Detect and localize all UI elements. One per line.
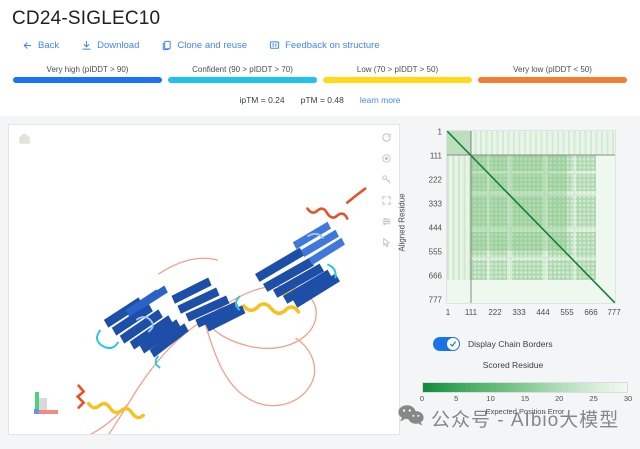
- pae-y-tick: 777: [414, 296, 442, 305]
- clone-label: Clone and reuse: [177, 40, 247, 51]
- display-chain-borders-toggle[interactable]: [433, 337, 460, 351]
- viewer-toolbar[interactable]: [378, 129, 395, 251]
- pae-heatmap[interactable]: [446, 130, 616, 304]
- legend-item-confident: Confident (90 > pIDDT > 70): [165, 65, 320, 83]
- arrow-left-icon: [22, 40, 33, 51]
- legend-label: Very high (pIDDT > 90): [13, 65, 162, 74]
- pae-y-tick: 444: [414, 224, 442, 233]
- iptm-score: ipTM = 0.24: [240, 95, 285, 105]
- legend-item-very-low: Very low (pIDDT < 50): [475, 65, 630, 83]
- pae-x-axis-title: Scored Residue: [400, 360, 640, 370]
- copy-icon: [161, 40, 172, 51]
- download-icon: [81, 40, 92, 51]
- legend-label: Very low (pIDDT < 50): [478, 65, 627, 74]
- fullscreen-icon[interactable]: [378, 192, 395, 209]
- pae-x-tick: 111: [465, 308, 477, 317]
- chain-borders-toggle-row[interactable]: Display Chain Borders: [433, 337, 640, 351]
- action-bar: Back Download Clone and reuse Feedback o…: [0, 30, 640, 59]
- reset-view-icon[interactable]: [378, 129, 395, 146]
- pae-y-tick: 333: [414, 200, 442, 209]
- download-button[interactable]: Download: [81, 40, 139, 51]
- legend-item-very-high: Very high (pIDDT > 90): [10, 65, 165, 83]
- pae-y-tick: 666: [414, 272, 442, 281]
- colorbar-tick: 25: [589, 394, 597, 403]
- pae-y-ticks: 1 111 222 333 444 555 666 777: [412, 122, 442, 327]
- comment-icon: [269, 40, 280, 51]
- pointer-select-icon[interactable]: [378, 234, 395, 251]
- plddt-legend: Very high (pIDDT > 90) Confident (90 > p…: [0, 59, 640, 85]
- legend-label: Confident (90 > pIDDT > 70): [168, 65, 317, 74]
- colorbar-ticks: 0 5 10 15 20 25 30: [422, 394, 628, 406]
- display-chain-borders-label: Display Chain Borders: [468, 339, 553, 349]
- screenshot-icon[interactable]: [378, 171, 395, 188]
- pae-x-tick: 333: [512, 308, 525, 317]
- ptm-score: pTM = 0.48: [301, 95, 344, 105]
- legend-label: Low (70 > pIDDT > 50): [323, 65, 472, 74]
- pae-x-tick: 555: [560, 308, 573, 317]
- main-content: Aligned Residue 1 111 222 333 444 555 66…: [0, 116, 640, 449]
- structure-viewer-canvas[interactable]: [8, 124, 400, 435]
- pae-x-tick: 777: [607, 308, 620, 317]
- colorbar-tick: 5: [454, 394, 458, 403]
- check-icon: [449, 340, 457, 348]
- pae-colorbar: 0 5 10 15 20 25 30 Expected Position Err…: [422, 382, 628, 416]
- learn-more-link[interactable]: learn more: [360, 95, 401, 105]
- feedback-button[interactable]: Feedback on structure: [269, 40, 380, 51]
- pae-y-tick: 555: [414, 248, 442, 257]
- colorbar-tick: 30: [624, 394, 632, 403]
- pae-plot: Aligned Residue 1 111 222 333 444 555 66…: [400, 122, 640, 327]
- colorbar-tick: 15: [521, 394, 529, 403]
- legend-bar-confident: [168, 77, 317, 83]
- clone-and-reuse-button[interactable]: Clone and reuse: [161, 40, 247, 51]
- xyz-axis-gizmo: [27, 388, 61, 422]
- colorbar-gradient: [422, 382, 628, 393]
- pae-x-tick: 444: [536, 308, 549, 317]
- feedback-label: Feedback on structure: [285, 40, 380, 51]
- pae-y-tick: 222: [414, 176, 442, 185]
- legend-bar-very-high: [13, 77, 162, 83]
- back-button[interactable]: Back: [22, 40, 59, 51]
- page-title: CD24-SIGLEC10: [0, 0, 640, 30]
- pae-x-tick: 666: [584, 308, 597, 317]
- colorbar-tick: 20: [555, 394, 563, 403]
- colorbar-tick: 10: [486, 394, 494, 403]
- toggle-knob: [447, 338, 459, 350]
- pae-x-tick: 1: [446, 308, 450, 317]
- legend-bar-low: [323, 77, 472, 83]
- legend-item-low: Low (70 > pIDDT > 50): [320, 65, 475, 83]
- pae-y-tick: 1: [414, 128, 442, 137]
- structure-viewer[interactable]: [8, 124, 400, 435]
- center-focus-icon[interactable]: [378, 150, 395, 167]
- back-label: Back: [38, 40, 59, 51]
- pae-panel: Aligned Residue 1 111 222 333 444 555 66…: [400, 116, 640, 449]
- colorbar-tick: 0: [420, 394, 424, 403]
- pae-y-axis-title: Aligned Residue: [398, 193, 407, 251]
- legend-bar-very-low: [478, 77, 627, 83]
- settings-layers-icon[interactable]: [378, 213, 395, 230]
- colorbar-title: Expected Position Error: [422, 407, 628, 416]
- download-label: Download: [97, 40, 139, 51]
- pae-x-tick: 222: [488, 308, 501, 317]
- score-row: ipTM = 0.24 pTM = 0.48 learn more: [0, 85, 640, 114]
- protein-structure-render: [9, 125, 399, 434]
- pae-x-ticks: 1 111 222 333 444 555 666 777: [446, 308, 616, 322]
- header: CD24-SIGLEC10 Back Download Clone and re…: [0, 0, 640, 116]
- pae-y-tick: 111: [414, 152, 442, 161]
